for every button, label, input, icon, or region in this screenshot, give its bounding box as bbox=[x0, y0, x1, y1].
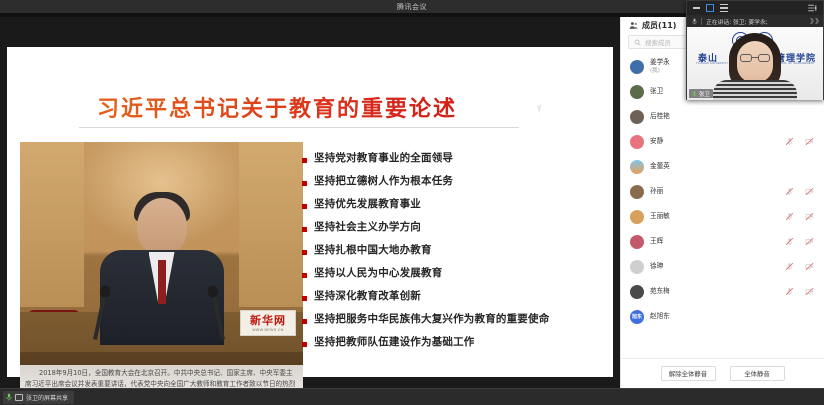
avatar bbox=[630, 85, 644, 99]
list-item[interactable]: 徐珅 bbox=[621, 254, 824, 279]
member-name: 徐珅 bbox=[650, 263, 663, 270]
member-name: 姜学永 bbox=[650, 59, 670, 66]
slide-photo: 新华网 WWW.NEWS.CN bbox=[20, 142, 303, 390]
member-name: 后桂艳 bbox=[650, 113, 670, 120]
speaker-glasses-bridge bbox=[752, 57, 758, 58]
member-name: 王辉 bbox=[650, 238, 663, 245]
bullet-square-icon bbox=[302, 181, 307, 186]
microphone-muted-icon[interactable] bbox=[785, 212, 794, 221]
member-name-wrap: 徐珅 bbox=[650, 263, 779, 270]
taskbar-item-label: 张卫的屏幕共享 bbox=[26, 393, 68, 402]
bullet-item: 坚持扎根中国大地办教育 bbox=[302, 245, 602, 257]
avatar bbox=[630, 160, 644, 174]
bullet-item: 坚持把立德树人作为根本任务 bbox=[302, 176, 602, 188]
member-name: 金蕾英 bbox=[650, 163, 670, 170]
speaking-text: 正在讲话: 张卫; 姜学永; bbox=[706, 17, 768, 26]
camera-off-icon[interactable] bbox=[805, 262, 814, 271]
member-name: 孙丽 bbox=[650, 188, 663, 195]
avatar bbox=[630, 210, 644, 224]
bullet-item: 坚持以人民为中心发展教育 bbox=[302, 268, 602, 280]
speaker-glasses-right bbox=[758, 54, 770, 62]
member-name-wrap: 后桂艳 bbox=[650, 113, 808, 120]
avatar bbox=[630, 185, 644, 199]
list-item[interactable]: 苑东梅 bbox=[621, 279, 824, 304]
member-name: 张卫 bbox=[650, 88, 663, 95]
bullet-text: 坚持深化教育改革创新 bbox=[314, 291, 421, 303]
watermark-text: 新华网 bbox=[250, 315, 286, 326]
bullet-item: 坚持优先发展教育事业 bbox=[302, 199, 602, 211]
member-name-wrap: 王丽敏 bbox=[650, 213, 779, 220]
bullet-square-icon bbox=[302, 296, 307, 301]
bullet-text: 坚持以人民为中心发展教育 bbox=[314, 268, 442, 280]
bullet-item: 坚持党对教育事业的全面领导 bbox=[302, 153, 602, 165]
system-taskbar: 张卫的屏幕共享 bbox=[0, 388, 824, 405]
bullet-text: 坚持社会主义办学方向 bbox=[314, 222, 421, 234]
bullet-text: 坚持优先发展教育事业 bbox=[314, 199, 421, 211]
avatar: 旭东 bbox=[630, 310, 644, 324]
monitor-icon bbox=[15, 394, 23, 401]
bullet-square-icon bbox=[302, 158, 307, 163]
member-name-wrap: 安静 bbox=[650, 138, 779, 145]
bullet-square-icon bbox=[302, 273, 307, 278]
list-item[interactable]: 王辉 bbox=[621, 229, 824, 254]
camera-off-icon[interactable] bbox=[805, 237, 814, 246]
bullet-square-icon bbox=[302, 250, 307, 255]
member-name-wrap: 苑东梅 bbox=[650, 288, 779, 295]
search-icon bbox=[634, 39, 641, 46]
pip-video-window[interactable]: 正在讲话: 张卫; 姜学永; 泰山 TAISHAN UNIVERSITY 管理学… bbox=[686, 0, 824, 100]
bullet-square-icon bbox=[302, 204, 307, 209]
microphone-muted-icon[interactable] bbox=[785, 262, 794, 271]
photo-person-tie bbox=[158, 260, 166, 304]
camera-off-icon[interactable] bbox=[805, 287, 814, 296]
avatar bbox=[630, 260, 644, 274]
audio-level-indicator bbox=[810, 18, 819, 24]
member-name-wrap: 赵旭东 bbox=[650, 313, 808, 320]
speaking-divider bbox=[701, 18, 702, 25]
list-item[interactable]: 旭东 赵旭东 bbox=[621, 304, 824, 329]
microphone-muted-icon[interactable] bbox=[785, 137, 794, 146]
camera-off-icon[interactable] bbox=[805, 187, 814, 196]
microphone-icon bbox=[6, 393, 12, 401]
microphone-muted-icon[interactable] bbox=[785, 187, 794, 196]
pip-window-controls bbox=[687, 1, 823, 15]
member-name-wrap: 金蕾英 bbox=[650, 163, 808, 170]
unmute-all-button[interactable]: 解除全体静音 bbox=[661, 366, 716, 381]
speaker-body bbox=[713, 80, 797, 100]
app-root: 腾讯会议 习近平总书记关于教育的重要论述 bbox=[0, 0, 824, 405]
member-panel-footer: 解除全体静音 全体静音 bbox=[621, 358, 824, 388]
list-item[interactable]: 后桂艳 bbox=[621, 104, 824, 129]
photo-wall-right bbox=[239, 142, 303, 307]
mute-all-button[interactable]: 全体静音 bbox=[730, 366, 785, 381]
avatar bbox=[630, 235, 644, 249]
bullet-square-icon bbox=[302, 319, 307, 324]
camera-off-icon[interactable] bbox=[805, 137, 814, 146]
microphone-muted-icon[interactable] bbox=[785, 237, 794, 246]
avatar bbox=[630, 110, 644, 124]
slide-bullet-list: 坚持党对教育事业的全面领导 坚持把立德树人作为根本任务 坚持优先发展教育事业 坚… bbox=[302, 153, 602, 360]
member-status-icons bbox=[785, 137, 814, 146]
microphone-on-icon bbox=[692, 91, 697, 97]
people-icon bbox=[629, 21, 638, 30]
list-item[interactable]: 孙丽 bbox=[621, 179, 824, 204]
search-input[interactable]: 搜索成员 bbox=[645, 37, 671, 47]
app-title: 腾讯会议 bbox=[397, 2, 427, 12]
bullet-item: 坚持深化教育改革创新 bbox=[302, 291, 602, 303]
bullet-text: 坚持党对教育事业的全面领导 bbox=[314, 153, 453, 165]
panel-toggle-icon[interactable] bbox=[808, 4, 817, 12]
bullet-square-icon bbox=[302, 227, 307, 232]
speaking-status-bar: 正在讲话: 张卫; 姜学永; bbox=[687, 15, 823, 27]
bullet-text: 坚持把教师队伍建设作为基础工作 bbox=[314, 337, 475, 349]
bullet-text: 坚持把服务中华民族伟大复兴作为教育的重要使命 bbox=[314, 314, 549, 326]
avatar bbox=[630, 60, 644, 74]
photo-person-head bbox=[137, 198, 187, 256]
watermark-subtext: WWW.NEWS.CN bbox=[252, 328, 284, 332]
bullet-square-icon bbox=[302, 342, 307, 347]
slide-title: 习近平总书记关于教育的重要论述 bbox=[7, 91, 547, 123]
xinhua-watermark: 新华网 WWW.NEWS.CN bbox=[240, 310, 296, 336]
photo-background: 新华网 WWW.NEWS.CN bbox=[20, 142, 303, 390]
member-name: 安静 bbox=[650, 138, 663, 145]
camera-off-icon[interactable] bbox=[805, 212, 814, 221]
bullet-text: 坚持把立德树人作为根本任务 bbox=[314, 176, 453, 188]
member-status-icons bbox=[785, 212, 814, 221]
microphone-muted-icon[interactable] bbox=[785, 287, 794, 296]
list-item[interactable]: 安静 bbox=[621, 129, 824, 154]
member-name: 苑东梅 bbox=[650, 288, 670, 295]
banner-left-subtext: TAISHAN UNIVERSITY bbox=[696, 62, 729, 65]
microphone-icon bbox=[692, 18, 697, 25]
member-status-icons bbox=[785, 187, 814, 196]
speaker-glasses-left bbox=[740, 54, 752, 62]
avatar bbox=[630, 135, 644, 149]
member-name: 赵旭东 bbox=[650, 313, 670, 320]
member-status-icons bbox=[785, 287, 814, 296]
shared-screen-stage[interactable]: 习近平总书记关于教育的重要论述 bbox=[0, 17, 620, 388]
member-self-tag: (我) bbox=[650, 69, 660, 75]
member-name-wrap: 王辉 bbox=[650, 238, 779, 245]
slide-title-rule bbox=[79, 127, 519, 128]
minimize-icon[interactable] bbox=[693, 7, 700, 9]
presentation-slide: 习近平总书记关于教育的重要论述 bbox=[7, 47, 613, 377]
member-count-label: 成员(11) bbox=[642, 20, 676, 31]
taskbar-screenshare-item[interactable]: 张卫的屏幕共享 bbox=[3, 391, 74, 404]
bullet-text: 坚持扎根中国大地办教育 bbox=[314, 245, 432, 257]
speaker-name: 张卫 bbox=[699, 90, 710, 98]
speaker-name-badge: 张卫 bbox=[689, 89, 713, 98]
member-name-wrap: 孙丽 bbox=[650, 188, 779, 195]
photo-wall-left bbox=[20, 142, 84, 307]
bullet-item: 坚持社会主义办学方向 bbox=[302, 222, 602, 234]
member-name: 王丽敏 bbox=[650, 213, 670, 220]
grid-view-icon[interactable] bbox=[720, 4, 728, 12]
maximize-icon[interactable] bbox=[706, 4, 714, 12]
list-item[interactable]: 金蕾英 bbox=[621, 154, 824, 179]
bullet-item: 坚持把教师队伍建设作为基础工作 bbox=[302, 337, 602, 349]
pip-video-feed[interactable]: 泰山 TAISHAN UNIVERSITY 管理学院 SCHOOL OF MAN… bbox=[687, 27, 823, 100]
member-status-icons bbox=[785, 262, 814, 271]
member-status-icons bbox=[785, 237, 814, 246]
list-item[interactable]: 王丽敏 bbox=[621, 204, 824, 229]
bullet-item: 坚持把服务中华民族伟大复兴作为教育的重要使命 bbox=[302, 314, 602, 326]
avatar bbox=[630, 285, 644, 299]
